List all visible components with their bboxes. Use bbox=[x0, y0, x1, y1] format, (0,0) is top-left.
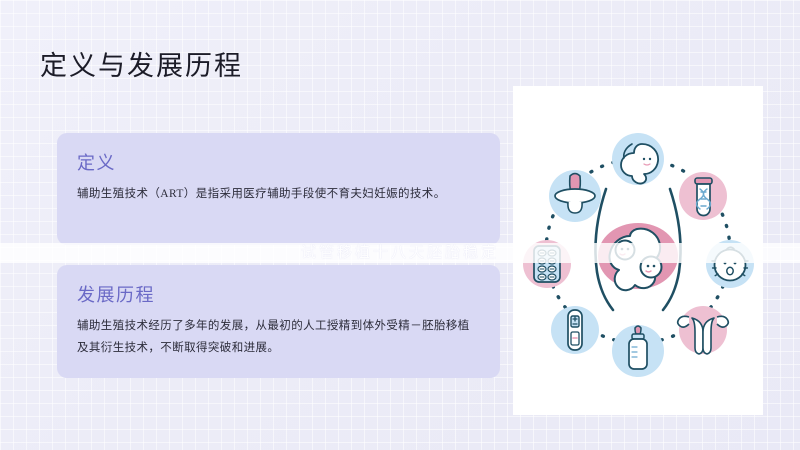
card-definition-body: 辅助生殖技术（ART）是指采用医疗辅助手段使不育夫妇妊娠的技术。 bbox=[77, 183, 480, 205]
card-history-heading: 发展历程 bbox=[77, 281, 155, 307]
pacifier-icon bbox=[549, 170, 601, 222]
baby-bottle-icon bbox=[612, 325, 664, 377]
card-definition-heading: 定义 bbox=[77, 149, 116, 175]
assisted-reproduction-illustration bbox=[513, 86, 763, 415]
card-history-body: 辅助生殖技术经历了多年的发展，从最初的人工授精到体外受精－胚胎移植及其衍生技术，… bbox=[77, 315, 480, 359]
uterus-ovaries-icon bbox=[678, 306, 729, 354]
pill-blister-icon bbox=[523, 240, 571, 288]
illustration-card bbox=[513, 86, 763, 415]
pregnancy-test-icon bbox=[551, 306, 599, 354]
fetus-icon bbox=[612, 133, 664, 185]
card-definition: 定义 辅助生殖技术（ART）是指采用医疗辅助手段使不育夫妇妊娠的技术。 bbox=[57, 133, 500, 245]
test-tube-dna-icon bbox=[679, 172, 727, 220]
card-history: 发展历程 辅助生殖技术经历了多年的发展，从最初的人工授精到体外受精－胚胎移植及其… bbox=[57, 265, 500, 378]
slide-canvas: 定义与发展历程 定义 辅助生殖技术（ART）是指采用医疗辅助手段使不育夫妇妊娠的… bbox=[0, 0, 800, 450]
page-title: 定义与发展历程 bbox=[40, 44, 243, 83]
baby-face-icon bbox=[706, 240, 754, 288]
